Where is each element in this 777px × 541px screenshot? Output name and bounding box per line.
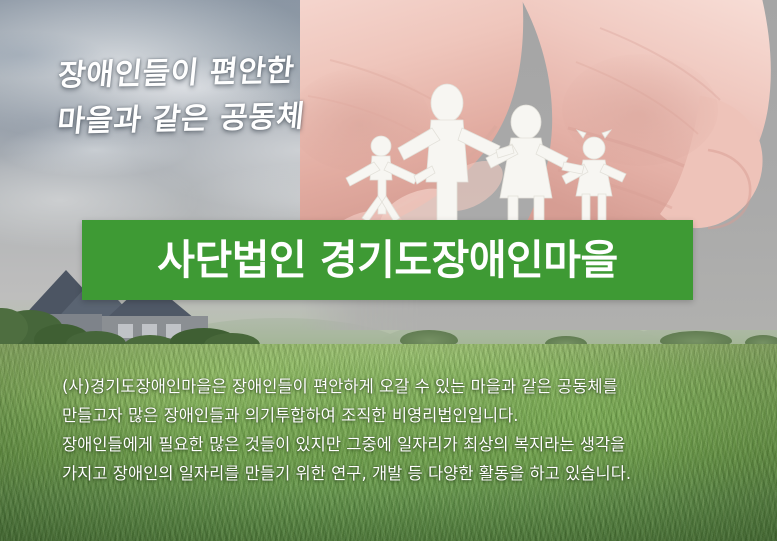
- description-paragraph: (사)경기도장애인마을은 장애인들이 편안하게 오갈 수 있는 마을과 같은 공…: [62, 372, 752, 488]
- organization-name: 사단법인 경기도장애인마을: [157, 240, 617, 281]
- description-line-4: 가지고 장애인의 일자리를 만들기 위한 연구, 개발 등 다양한 활동을 하고…: [62, 459, 752, 488]
- description-line-2: 만들고자 많은 장애인들과 의기투합하여 조직한 비영리법인입니다.: [62, 401, 752, 430]
- headline-script: 장애인들이 편안한 마을과 같은 공동체: [51, 47, 391, 145]
- headline-line-2: 마을과 같은 공동체: [51, 92, 386, 144]
- organization-title-bar: 사단법인 경기도장애인마을: [82, 220, 693, 300]
- promo-banner: 장애인들이 편안한 마을과 같은 공동체 사단법인 경기도장애인마을 (사)경기…: [0, 0, 777, 541]
- description-line-3: 장애인들에게 필요한 많은 것들이 있지만 그중에 일자리가 최상의 복지라는 …: [62, 430, 752, 459]
- description-line-1: (사)경기도장애인마을은 장애인들이 편안하게 오갈 수 있는 마을과 같은 공…: [62, 372, 752, 401]
- headline-line-1: 장애인들이 편안한: [56, 47, 391, 99]
